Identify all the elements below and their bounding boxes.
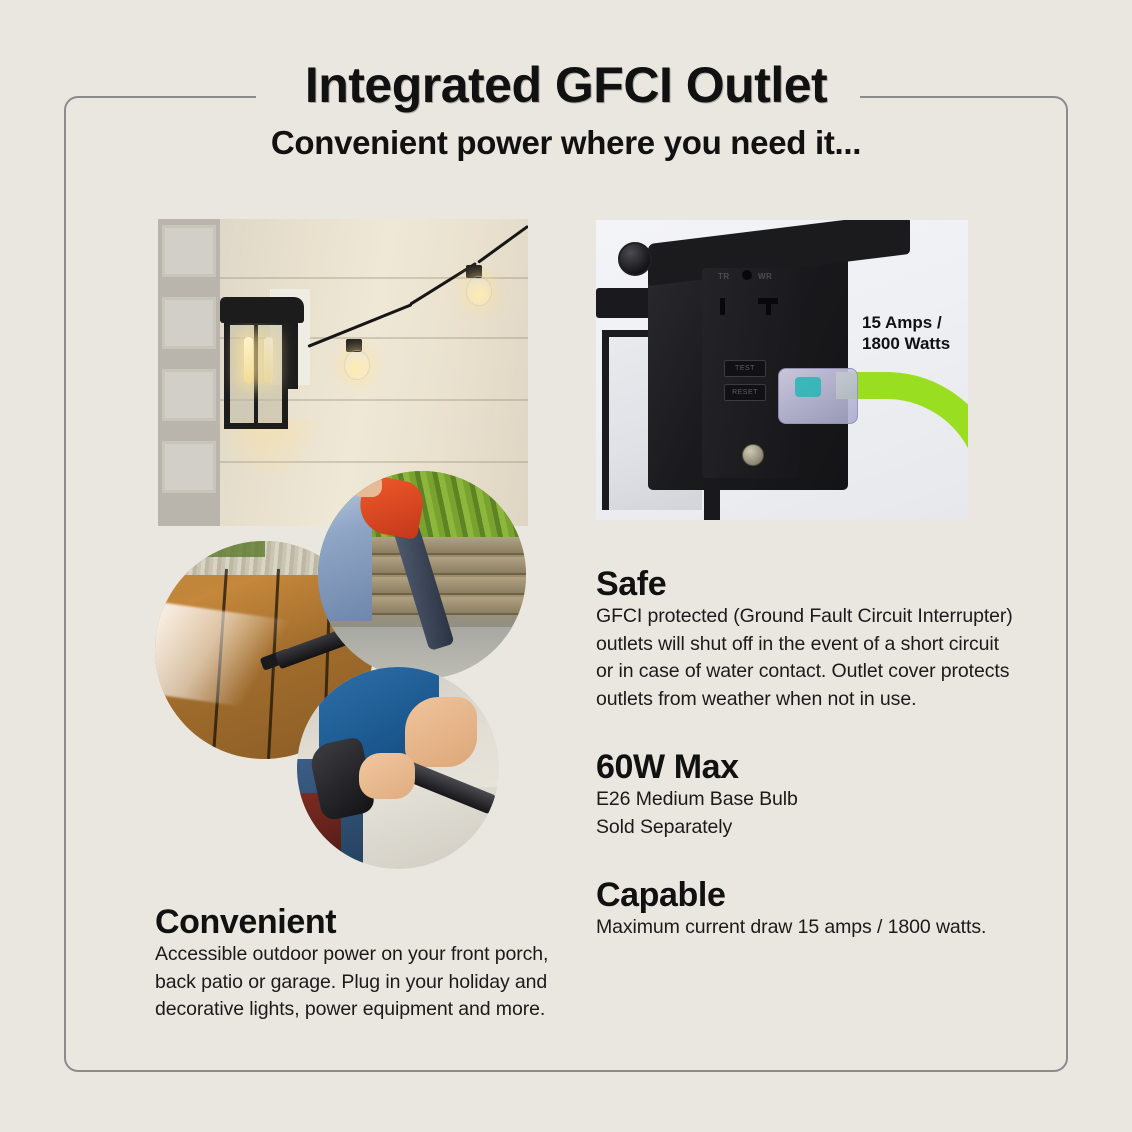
- sconce-filament-reflection: [264, 337, 273, 383]
- leaf-blower-garden-photo: [318, 471, 526, 679]
- feature-safe-heading: Safe: [596, 567, 1016, 601]
- feature-capable: Capable Maximum current draw 15 amps / 1…: [596, 878, 1016, 942]
- hot-slot: [766, 298, 771, 315]
- receptacle-slots: [716, 284, 786, 334]
- feature-safe: Safe GFCI protected (Ground Fault Circui…: [596, 567, 1016, 714]
- string-light-bulb: [466, 276, 492, 306]
- car-seat-vacuum-photo: [297, 667, 499, 869]
- sconce-lantern-body: [224, 319, 288, 429]
- feature-convenient-heading: Convenient: [155, 905, 575, 939]
- feature-capable-body: Maximum current draw 15 amps / 1800 watt…: [596, 914, 1016, 942]
- page-title: Integrated GFCI Outlet: [0, 60, 1132, 110]
- plug-teal-insert: [795, 377, 821, 397]
- window-pane: [162, 297, 216, 349]
- ground-pin-hole: [742, 270, 752, 280]
- feature-capable-heading: Capable: [596, 878, 1016, 912]
- string-light-wire: [477, 225, 528, 264]
- test-button[interactable]: TEST: [724, 360, 766, 377]
- feature-safe-body: GFCI protected (Ground Fault Circuit Int…: [596, 603, 1016, 714]
- sconce-filament-bulb: [244, 337, 253, 383]
- feature-sixty-watt-max-heading: 60W Max: [596, 750, 1016, 784]
- person-arm: [405, 697, 477, 767]
- feature-convenient: Convenient Accessible outdoor power on y…: [155, 905, 575, 1024]
- window-pane: [162, 225, 216, 277]
- extension-cord-plug: [778, 368, 858, 424]
- tr-label: TR: [718, 272, 730, 281]
- feature-convenient-body: Accessible outdoor power on your front p…: [155, 941, 575, 1024]
- cover-latch-knob: [618, 242, 652, 276]
- reset-button[interactable]: RESET: [724, 384, 766, 401]
- header: Integrated GFCI Outlet Convenient power …: [0, 60, 1132, 159]
- person-hand: [352, 473, 382, 497]
- feature-sixty-watt-max-body: E26 Medium Base Bulb Sold Separately: [596, 786, 1016, 841]
- lantern-mullion: [254, 325, 258, 423]
- wr-label: WR: [758, 272, 772, 281]
- garden-greenery: [175, 541, 265, 557]
- person-hand: [359, 753, 415, 799]
- infographic-root: Integrated GFCI Outlet Convenient power …: [0, 0, 1132, 1132]
- window-pane: [162, 369, 216, 421]
- string-light-bulb: [344, 350, 370, 380]
- feature-sixty-watt-max: 60W Max E26 Medium Base Bulb Sold Separa…: [596, 750, 1016, 841]
- cover-screw: [742, 444, 764, 466]
- neutral-slot: [720, 298, 725, 315]
- window-panel: [158, 219, 220, 526]
- amps-watts-callout: 15 Amps / 1800 Watts: [862, 312, 950, 355]
- gfci-outlet-photo: TR WR TEST RESET 15 Amps / 1800 Watts: [596, 220, 968, 520]
- page-subtitle: Convenient power where you need it...: [0, 126, 1132, 159]
- sconce-head-cap: [220, 297, 304, 323]
- window-pane: [162, 441, 216, 493]
